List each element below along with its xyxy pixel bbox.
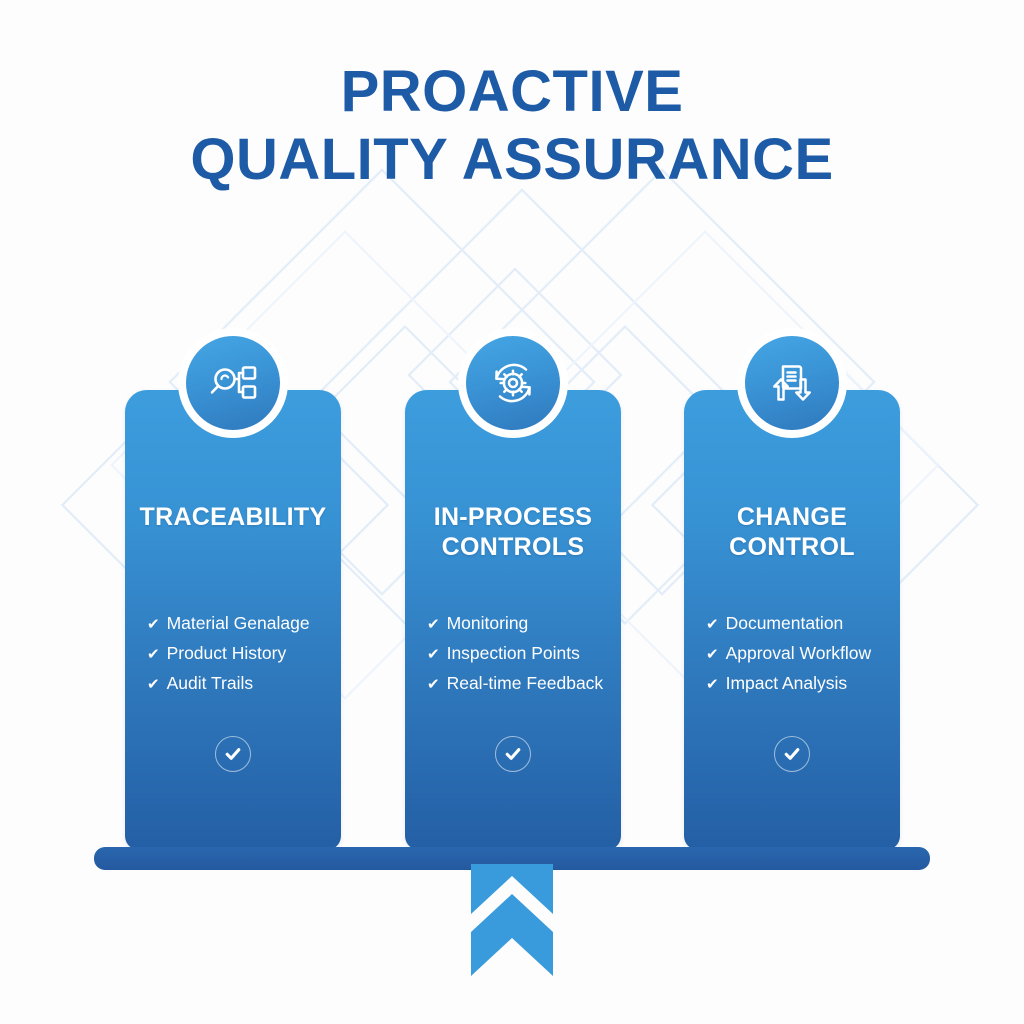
list-item: ✔ Inspection Points [427,638,611,668]
check-icon: ✔ [427,642,440,668]
list-item: ✔ Real-time Feedback [427,668,611,698]
list-item: ✔ Product History [147,638,331,668]
list-item-label: Impact Analysis [726,668,848,698]
check-icon: ✔ [427,612,440,638]
icon-badge-traceability [178,328,288,438]
list-item: ✔ Documentation [706,608,890,638]
gear-cycle-icon [466,336,560,430]
list-item-label: Material Genalage [167,608,310,638]
check-icon: ✔ [427,672,440,698]
chevron-ribbon-icon [471,864,553,976]
magnifier-network-icon [186,336,280,430]
pillar-card-in-process-controls[interactable]: IN-PROCESS CONTROLS ✔ Monitoring ✔ Inspe… [405,390,621,850]
list-item: ✔ Impact Analysis [706,668,890,698]
check-icon: ✔ [147,672,160,698]
bullet-list-change-control: ✔ Documentation ✔ Approval Workflow ✔ Im… [706,608,890,698]
bullet-list-traceability: ✔ Material Genalage ✔ Product History ✔ … [147,608,331,698]
infographic-canvas: PROACTIVE QUALITY ASSURANCE [0,0,1024,1024]
icon-badge-change-control [737,328,847,438]
list-item-label: Documentation [726,608,844,638]
check-icon: ✔ [147,642,160,668]
pillar-card-change-control[interactable]: CHANGE CONTROL ✔ Documentation ✔ Approva… [684,390,900,850]
check-circle-icon [495,736,531,772]
document-exchange-icon [745,336,839,430]
list-item: ✔ Approval Workflow [706,638,890,668]
list-item-label: Monitoring [447,608,529,638]
bullet-list-in-process-controls: ✔ Monitoring ✔ Inspection Points ✔ Real-… [427,608,611,698]
list-item-label: Real-time Feedback [447,668,604,698]
list-item-label: Audit Trails [167,668,254,698]
list-item: ✔ Monitoring [427,608,611,638]
card-title-traceability: TRACEABILITY [125,502,341,532]
check-icon: ✔ [706,642,719,668]
check-circle-icon [215,736,251,772]
list-item: ✔ Audit Trails [147,668,331,698]
check-icon: ✔ [706,612,719,638]
list-item-label: Inspection Points [447,638,580,668]
list-item-label: Approval Workflow [726,638,872,668]
check-circle-icon [774,736,810,772]
check-icon: ✔ [147,612,160,638]
card-title-change-control: CHANGE CONTROL [684,502,900,562]
icon-badge-in-process-controls [458,328,568,438]
card-title-in-process-controls: IN-PROCESS CONTROLS [405,502,621,562]
pillar-card-traceability[interactable]: TRACEABILITY ✔ Material Genalage ✔ Produ… [125,390,341,850]
list-item: ✔ Material Genalage [147,608,331,638]
list-item-label: Product History [167,638,287,668]
check-icon: ✔ [706,672,719,698]
